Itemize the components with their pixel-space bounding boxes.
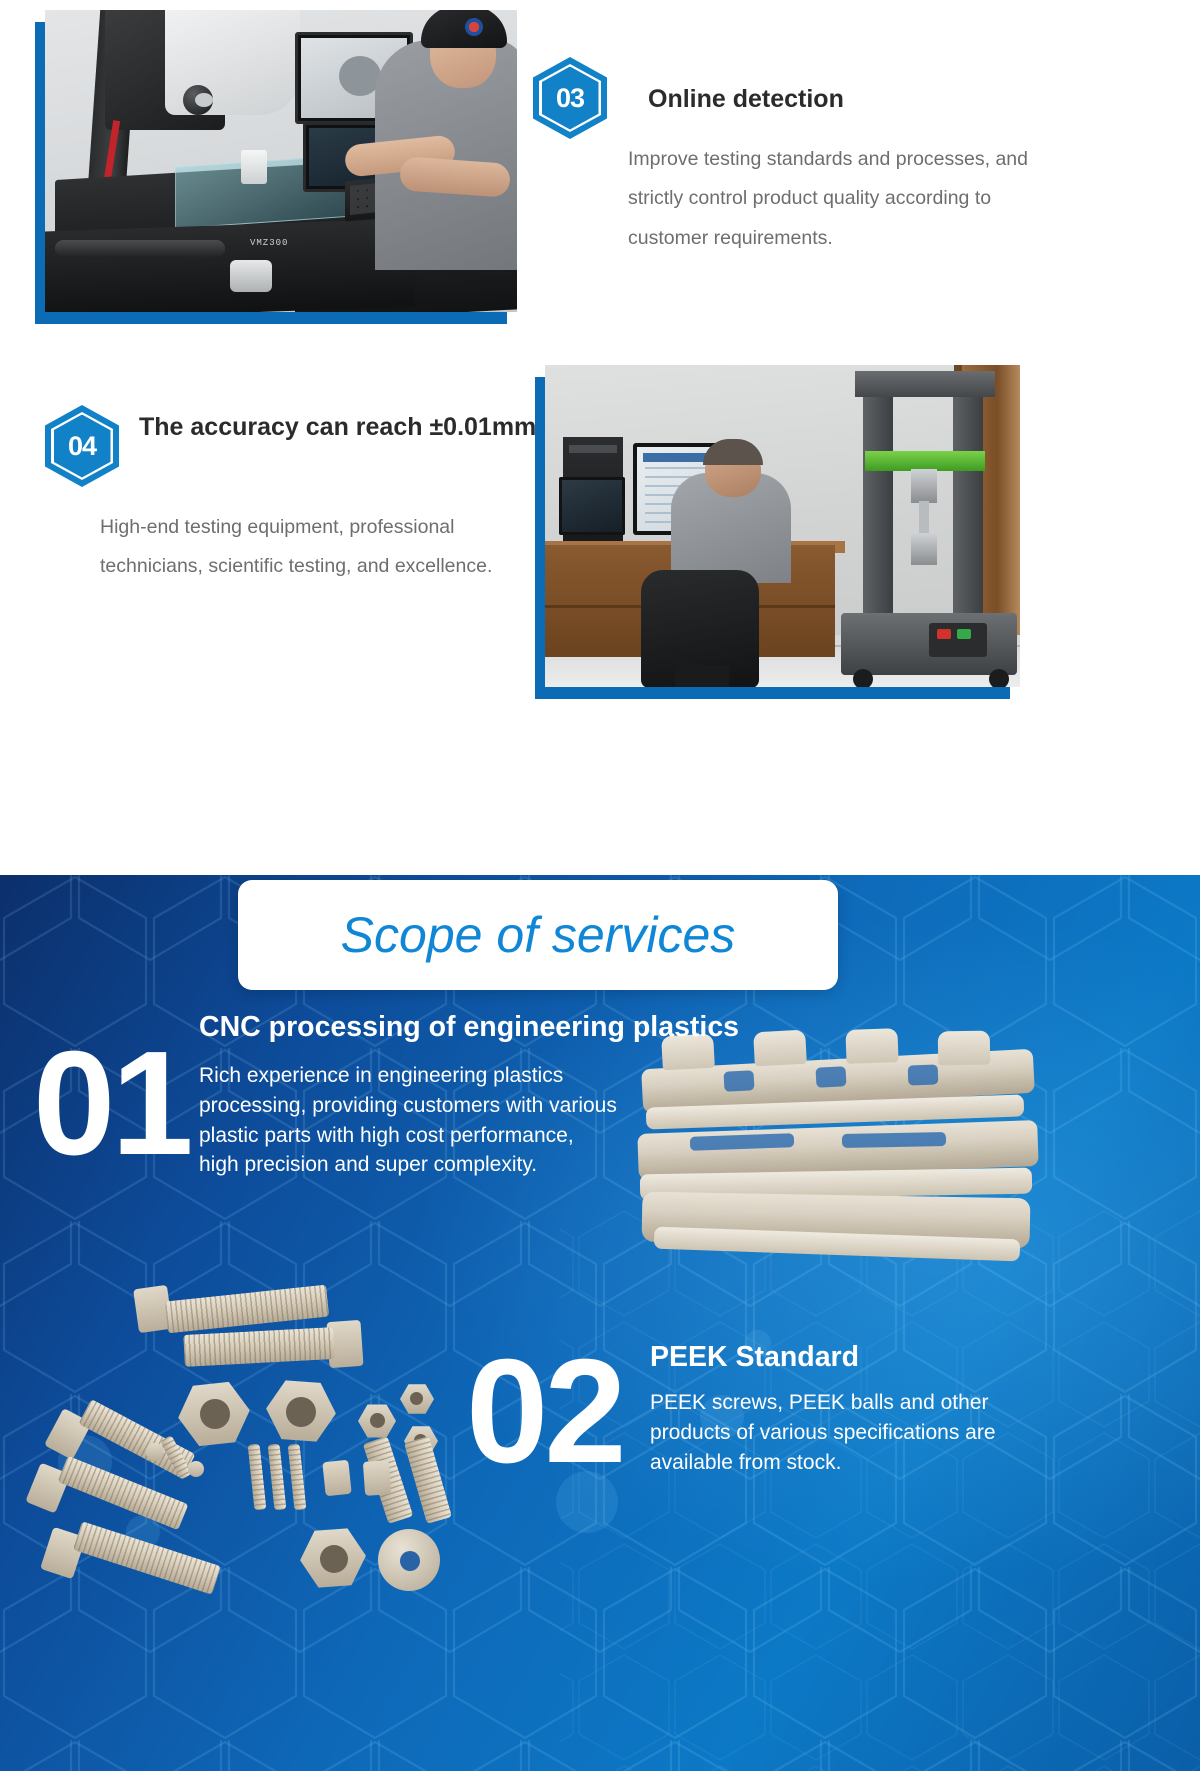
feature-badge-03: 03	[533, 57, 607, 139]
feature-number-04: 04	[45, 405, 119, 487]
service-number-02: 02	[466, 1338, 623, 1486]
feature-title-04: The accuracy can reach ±0.01mm	[139, 408, 539, 447]
features-section: VMZ300 03 Online detection Improve testi…	[0, 0, 1200, 875]
service-title-02: PEEK Standard	[650, 1341, 1070, 1374]
service-body-02: PEEK screws, PEEK balls and other produc…	[650, 1388, 1020, 1477]
tensile-testing-machine-image	[545, 365, 1020, 687]
peek-chain-part-image	[628, 1035, 1048, 1267]
service-body-01: Rich experience in engineering plastics …	[199, 1061, 617, 1180]
feature-number-03: 03	[533, 57, 607, 139]
peek-screws-image	[28, 1275, 458, 1605]
feature-title-03: Online detection	[648, 80, 1078, 119]
service-number-01: 01	[33, 1030, 190, 1178]
feature-badge-04: 04	[45, 405, 119, 487]
scope-title-card: Scope of services	[238, 880, 838, 990]
scope-title: Scope of services	[341, 906, 736, 964]
accuracy-photo	[545, 365, 1020, 687]
scope-of-services-section: Scope of services 01 CNC processing of e…	[0, 875, 1200, 1771]
service-title-01: CNC processing of engineering plastics	[199, 1011, 979, 1044]
online-detection-photo: VMZ300	[45, 10, 517, 312]
feature-body-03: Improve testing standards and processes,…	[628, 140, 1028, 258]
feature-body-04: High-end testing equipment, professional…	[100, 508, 530, 587]
optical-measuring-machine-image: VMZ300	[45, 10, 517, 312]
